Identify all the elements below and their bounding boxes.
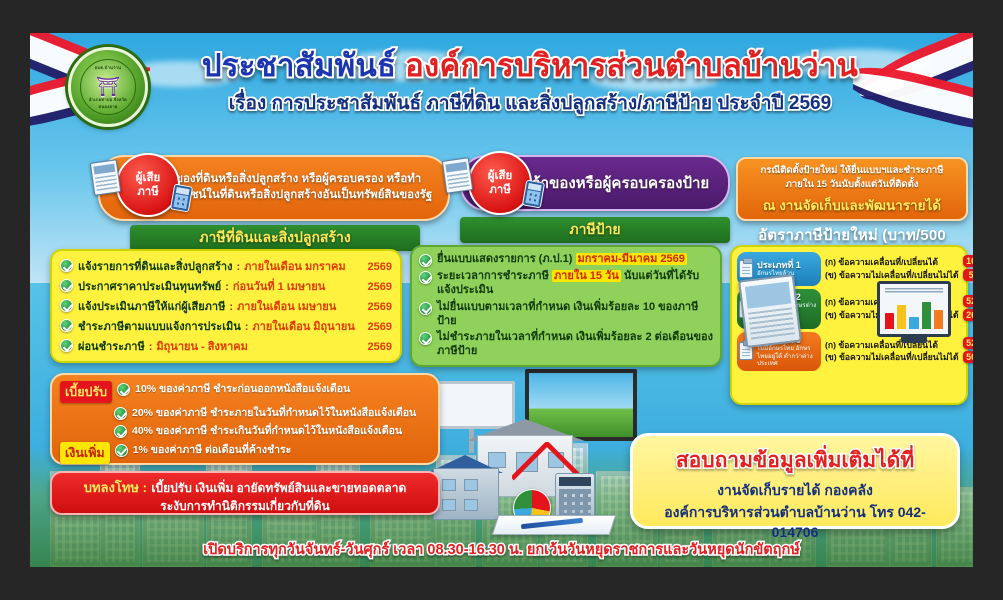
logo-bottom-text: อำเภอท่าบ่อ จังหวัดหนองคาย bbox=[81, 96, 135, 110]
surcharge-badge: เงินเพิ่ม bbox=[60, 442, 110, 464]
schedule-year: 2569 bbox=[368, 261, 392, 273]
penalty-text: 40% ของค่าภาษี ชำระเกินวันที่กำหนดไว้ในห… bbox=[132, 423, 402, 439]
service-hours-footer: เปิดบริการทุกวันจันทร์-วันศุกร์ เวลา 08.… bbox=[30, 538, 973, 561]
check-icon bbox=[60, 299, 73, 312]
schedule-item: แจ้งประเมินภาษีให้แก่ผู้เสียภาษี:ภายในเด… bbox=[60, 297, 392, 315]
schedule-label: ชำระภาษีตามแบบแจ้งการประเมิน bbox=[78, 317, 241, 335]
schedule-separator: : bbox=[236, 261, 240, 273]
title-part-2: องค์การบริหารส่วนตำบลบ้านว่าน bbox=[405, 48, 858, 83]
rate-value: 52 bbox=[963, 337, 973, 349]
logo-top-text: อบต.บ้านว่าน bbox=[81, 64, 135, 71]
sign-tax-item: ระยะเวลาการชำระภาษี ภายใน 15 วัน นับแต่ว… bbox=[419, 269, 713, 298]
rate-descriptions: (ก) ข้อความเคลื่อนที่/เปลี่ยนได้(ข) ข้อค… bbox=[825, 256, 959, 282]
sign-tax-item: ไม่ยื่นแบบตามเวลาที่กำหนด เงินเพิ่มร้อยล… bbox=[419, 300, 713, 329]
rate-table-title: อัตราภาษีป้ายใหม่ (บาท/500 ตร.ซม.) bbox=[736, 223, 968, 247]
penalty-item: 40% ของค่าภาษี ชำระเกินวันที่กำหนดไว้ในห… bbox=[114, 423, 430, 439]
land-badge-line-1: ผู้เสีย bbox=[136, 171, 160, 185]
schedule-separator: : bbox=[149, 341, 153, 353]
schedule-item: ประกาศราคาประเมินทุนทรัพย์:ก่อนวันที่ 1 … bbox=[60, 277, 392, 295]
house-icon-2 bbox=[433, 468, 499, 520]
punishment-line-1: เบี้ยปรับ เงินเพิ่ม อายัดทรัพย์สินและขาย… bbox=[151, 481, 406, 495]
monitor-bars bbox=[885, 301, 943, 329]
schedule-label: ผ่อนชำระภาษี bbox=[78, 337, 145, 355]
sign-tax-list-card: ยื่นแบบแสดงรายการ (ภ.ป.1) มกราคม-มีนาคม … bbox=[410, 245, 722, 367]
contact-heading: สอบถามข้อมูลเพิ่มเติมได้ที่ bbox=[643, 444, 947, 477]
penalty-item: เบี้ยปรับ10% ของค่าภาษี ชำระก่อนออกหนังส… bbox=[60, 381, 430, 403]
notice-line-1: กรณีติดตั้งป้ายใหม่ ให้ยื่นแบบฯและชำระภา… bbox=[744, 164, 960, 178]
sign-tax-text: ไม่ยื่นแบบตามเวลาที่กำหนด เงินเพิ่มร้อยล… bbox=[437, 300, 713, 329]
schedule-label: แจ้งประเมินภาษีให้แก่ผู้เสียภาษี bbox=[78, 297, 225, 315]
surcharge-text: 1% ของค่าภาษี ต่อเดือนที่ค้างชำระ bbox=[133, 442, 292, 458]
rate-value: 5 bbox=[963, 269, 973, 281]
schedule-year: 2569 bbox=[368, 281, 392, 293]
punishment-line-2: ระงับการทำนิติกรรมเกี่ยวกับที่ดิน bbox=[58, 498, 432, 514]
check-icon bbox=[117, 383, 130, 396]
sign-badge-line-2: ภาษี bbox=[489, 183, 511, 197]
page-title: ประชาสัมพันธ์ องค์การบริหารส่วนตำบลบ้านว… bbox=[180, 49, 880, 84]
highlight-text: มกราคม-มีนาคม 2569 bbox=[576, 253, 687, 265]
penalty-text: 20% ของค่าภาษี ชำระภายในวันที่กำหนดไว้ใน… bbox=[132, 405, 416, 421]
schedule-period: ภายในเดือน มกราคม bbox=[244, 257, 367, 275]
rate-value: 26 bbox=[963, 309, 973, 321]
rate-values: 5250 bbox=[963, 337, 973, 365]
rate-description: (ข) ข้อความไม่เคลื่อนที่/เปลี่ยนไม่ได้ bbox=[825, 351, 959, 364]
check-icon bbox=[114, 407, 127, 420]
schedule-separator: : bbox=[229, 301, 233, 313]
tablet-icon bbox=[738, 274, 802, 348]
document-icon bbox=[90, 159, 121, 195]
schedule-item: ผ่อนชำระภาษี:มิถุนายน - สิงหาคม2569 bbox=[60, 337, 392, 355]
schedule-separator: : bbox=[245, 321, 249, 333]
check-icon bbox=[60, 319, 73, 332]
schedule-label: แจ้งรายการที่ดินและสิ่งปลูกสร้าง bbox=[78, 257, 232, 275]
rate-value: 50 bbox=[963, 351, 973, 363]
sign-taxpayer-description: เจ้าของหรือผู้ครอบครองป้าย bbox=[527, 171, 709, 195]
rate-value: 52 bbox=[963, 295, 973, 307]
rate-value: 10 bbox=[963, 255, 973, 267]
sign-badge-line-1: ผู้เสีย bbox=[488, 169, 512, 183]
contact-phone: องค์การบริหารส่วนตำบลบ้านว่าน โทร 042-01… bbox=[643, 502, 947, 540]
sign-tax-text: ไม่ชำระภายในเวลาที่กำหนด เงินเพิ่มร้อยละ… bbox=[437, 330, 713, 359]
fine-badge: เบี้ยปรับ bbox=[60, 381, 112, 403]
rate-description: (ก) ข้อความเคลื่อนที่/เปลี่ยนได้ bbox=[825, 256, 959, 269]
schedule-year: 2569 bbox=[368, 341, 392, 353]
check-icon bbox=[114, 425, 127, 438]
rate-descriptions: (ก) ข้อความเคลื่อนที่/เปลี่ยนได้(ข) ข้อค… bbox=[825, 339, 959, 365]
land-badge-line-2: ภาษี bbox=[137, 185, 159, 199]
highlight-text: ภายใน 15 วัน bbox=[552, 270, 621, 282]
title-part-1: ประชาสัมพันธ์ bbox=[202, 48, 396, 83]
notice-line-2: ภายใน 15 วันนับตั้งแต่วันที่ติดตั้ง bbox=[744, 178, 960, 192]
schedule-year: 2569 bbox=[368, 321, 392, 333]
schedule-period: ก่อนวันที่ 1 เมษายน bbox=[233, 277, 368, 295]
check-icon bbox=[60, 279, 73, 292]
check-icon bbox=[60, 259, 73, 272]
illustration-group bbox=[425, 363, 655, 538]
penalty-item: 20% ของค่าภาษี ชำระภายในวันที่กำหนดไว้ใน… bbox=[114, 405, 430, 421]
monitor-chart-icon bbox=[877, 281, 951, 337]
check-icon bbox=[115, 444, 128, 457]
sign-tax-item: ไม่ชำระภายในเวลาที่กำหนด เงินเพิ่มร้อยละ… bbox=[419, 330, 713, 359]
rate-type-label: ประเภทที่ 1 bbox=[757, 260, 818, 270]
organization-logo: อบต.บ้านว่าน ⛩ อำเภอท่าบ่อ จังหวัดหนองคา… bbox=[68, 47, 148, 127]
notice-line-3: ณ งานจัดเก็บและพัฒนารายได้ bbox=[744, 194, 960, 216]
temple-icon: ⛩ bbox=[96, 78, 120, 97]
calculator-large-icon bbox=[555, 473, 595, 519]
penalty-card: เบี้ยปรับ10% ของค่าภาษี ชำระก่อนออกหนังส… bbox=[50, 373, 440, 465]
document-icon-sign bbox=[442, 157, 473, 193]
poster-header: อบต.บ้านว่าน ⛩ อำเภอท่าบ่อ จังหวัดหนองคา… bbox=[30, 33, 973, 148]
schedule-item: แจ้งรายการที่ดินและสิ่งปลูกสร้าง:ภายในเด… bbox=[60, 257, 392, 275]
punishment-label: บทลงโทษ : bbox=[84, 480, 147, 495]
rate-type-sublabel: ไม่มีอักษรไทย อักษรไทยอยู่ใต้ ต่ำกว่าต่า… bbox=[757, 345, 818, 368]
check-icon bbox=[419, 332, 432, 345]
land-taxpayer-description: เจ้าของที่ดินหรือสิ่งปลูกสร้าง หรือผู้คร… bbox=[158, 172, 438, 203]
sign-tax-item: ยื่นแบบแสดงรายการ (ภ.ป.1) มกราคม-มีนาคม … bbox=[419, 252, 713, 267]
rate-values: 5226 bbox=[963, 295, 973, 323]
title-block: ประชาสัมพันธ์ องค์การบริหารส่วนตำบลบ้านว… bbox=[180, 49, 880, 118]
check-icon bbox=[60, 339, 73, 352]
rate-values: 105 bbox=[963, 255, 973, 283]
new-sign-notice: กรณีติดตั้งป้ายใหม่ ให้ยื่นแบบฯและชำระภา… bbox=[736, 157, 968, 221]
check-icon bbox=[419, 271, 432, 284]
clipboard-icon bbox=[739, 260, 753, 278]
schedule-period: ภายในเดือน เมษายน bbox=[237, 297, 368, 315]
sign-tax-text: ระยะเวลาการชำระภาษี ภายใน 15 วัน นับแต่ว… bbox=[437, 269, 713, 298]
land-tax-schedule-card: แจ้งรายการที่ดินและสิ่งปลูกสร้าง:ภายในเด… bbox=[50, 249, 402, 363]
punishment-bar: บทลงโทษ : เบี้ยปรับ เงินเพิ่ม อายัดทรัพย… bbox=[50, 471, 440, 515]
schedule-year: 2569 bbox=[368, 301, 392, 313]
rate-description: (ข) ข้อความไม่เคลื่อนที่/เปลี่ยนไม่ได้ bbox=[825, 269, 959, 282]
check-icon bbox=[419, 302, 432, 315]
contact-office: งานจัดเก็บรายได้ กองคลัง bbox=[643, 480, 947, 502]
check-icon bbox=[419, 254, 432, 267]
surcharge-item: เงินเพิ่ม1% ของค่าภาษี ต่อเดือนที่ค้างชำ… bbox=[60, 442, 430, 464]
schedule-label: ประกาศราคาประเมินทุนทรัพย์ bbox=[78, 277, 221, 295]
rate-description: (ก) ข้อความเคลื่อนที่/เปลี่ยนได้ bbox=[825, 339, 959, 352]
schedule-period: มิถุนายน - สิงหาคม bbox=[156, 337, 367, 355]
sign-tax-text: ยื่นแบบแสดงรายการ (ภ.ป.1) มกราคม-มีนาคม … bbox=[437, 252, 687, 266]
schedule-period: ภายในเดือน มิถุนายน bbox=[252, 317, 367, 335]
logo-emblem: อบต.บ้านว่าน ⛩ อำเภอท่าบ่อ จังหวัดหนองคา… bbox=[80, 59, 136, 115]
monitor-header-lines bbox=[885, 288, 943, 294]
sign-tax-section-label: ภาษีป้าย bbox=[460, 217, 730, 243]
contact-box: สอบถามข้อมูลเพิ่มเติมได้ที่ งานจัดเก็บรา… bbox=[630, 433, 960, 529]
schedule-separator: : bbox=[225, 281, 229, 293]
land-tax-section-label: ภาษีที่ดินและสิ่งปลูกสร้าง bbox=[130, 225, 420, 251]
page-subtitle: เรื่อง การประชาสัมพันธ์ ภาษีที่ดิน และสิ… bbox=[180, 88, 880, 118]
sign-taxpayer-badge: ผู้เสีย ภาษี bbox=[468, 151, 532, 215]
poster-canvas: อบต.บ้านว่าน ⛩ อำเภอท่าบ่อ จังหวัดหนองคา… bbox=[30, 33, 973, 567]
penalty-text: 10% ของค่าภาษี ชำระก่อนออกหนังสือแจ้งเตื… bbox=[135, 381, 350, 397]
schedule-item: ชำระภาษีตามแบบแจ้งการประเมิน:ภายในเดือน … bbox=[60, 317, 392, 335]
